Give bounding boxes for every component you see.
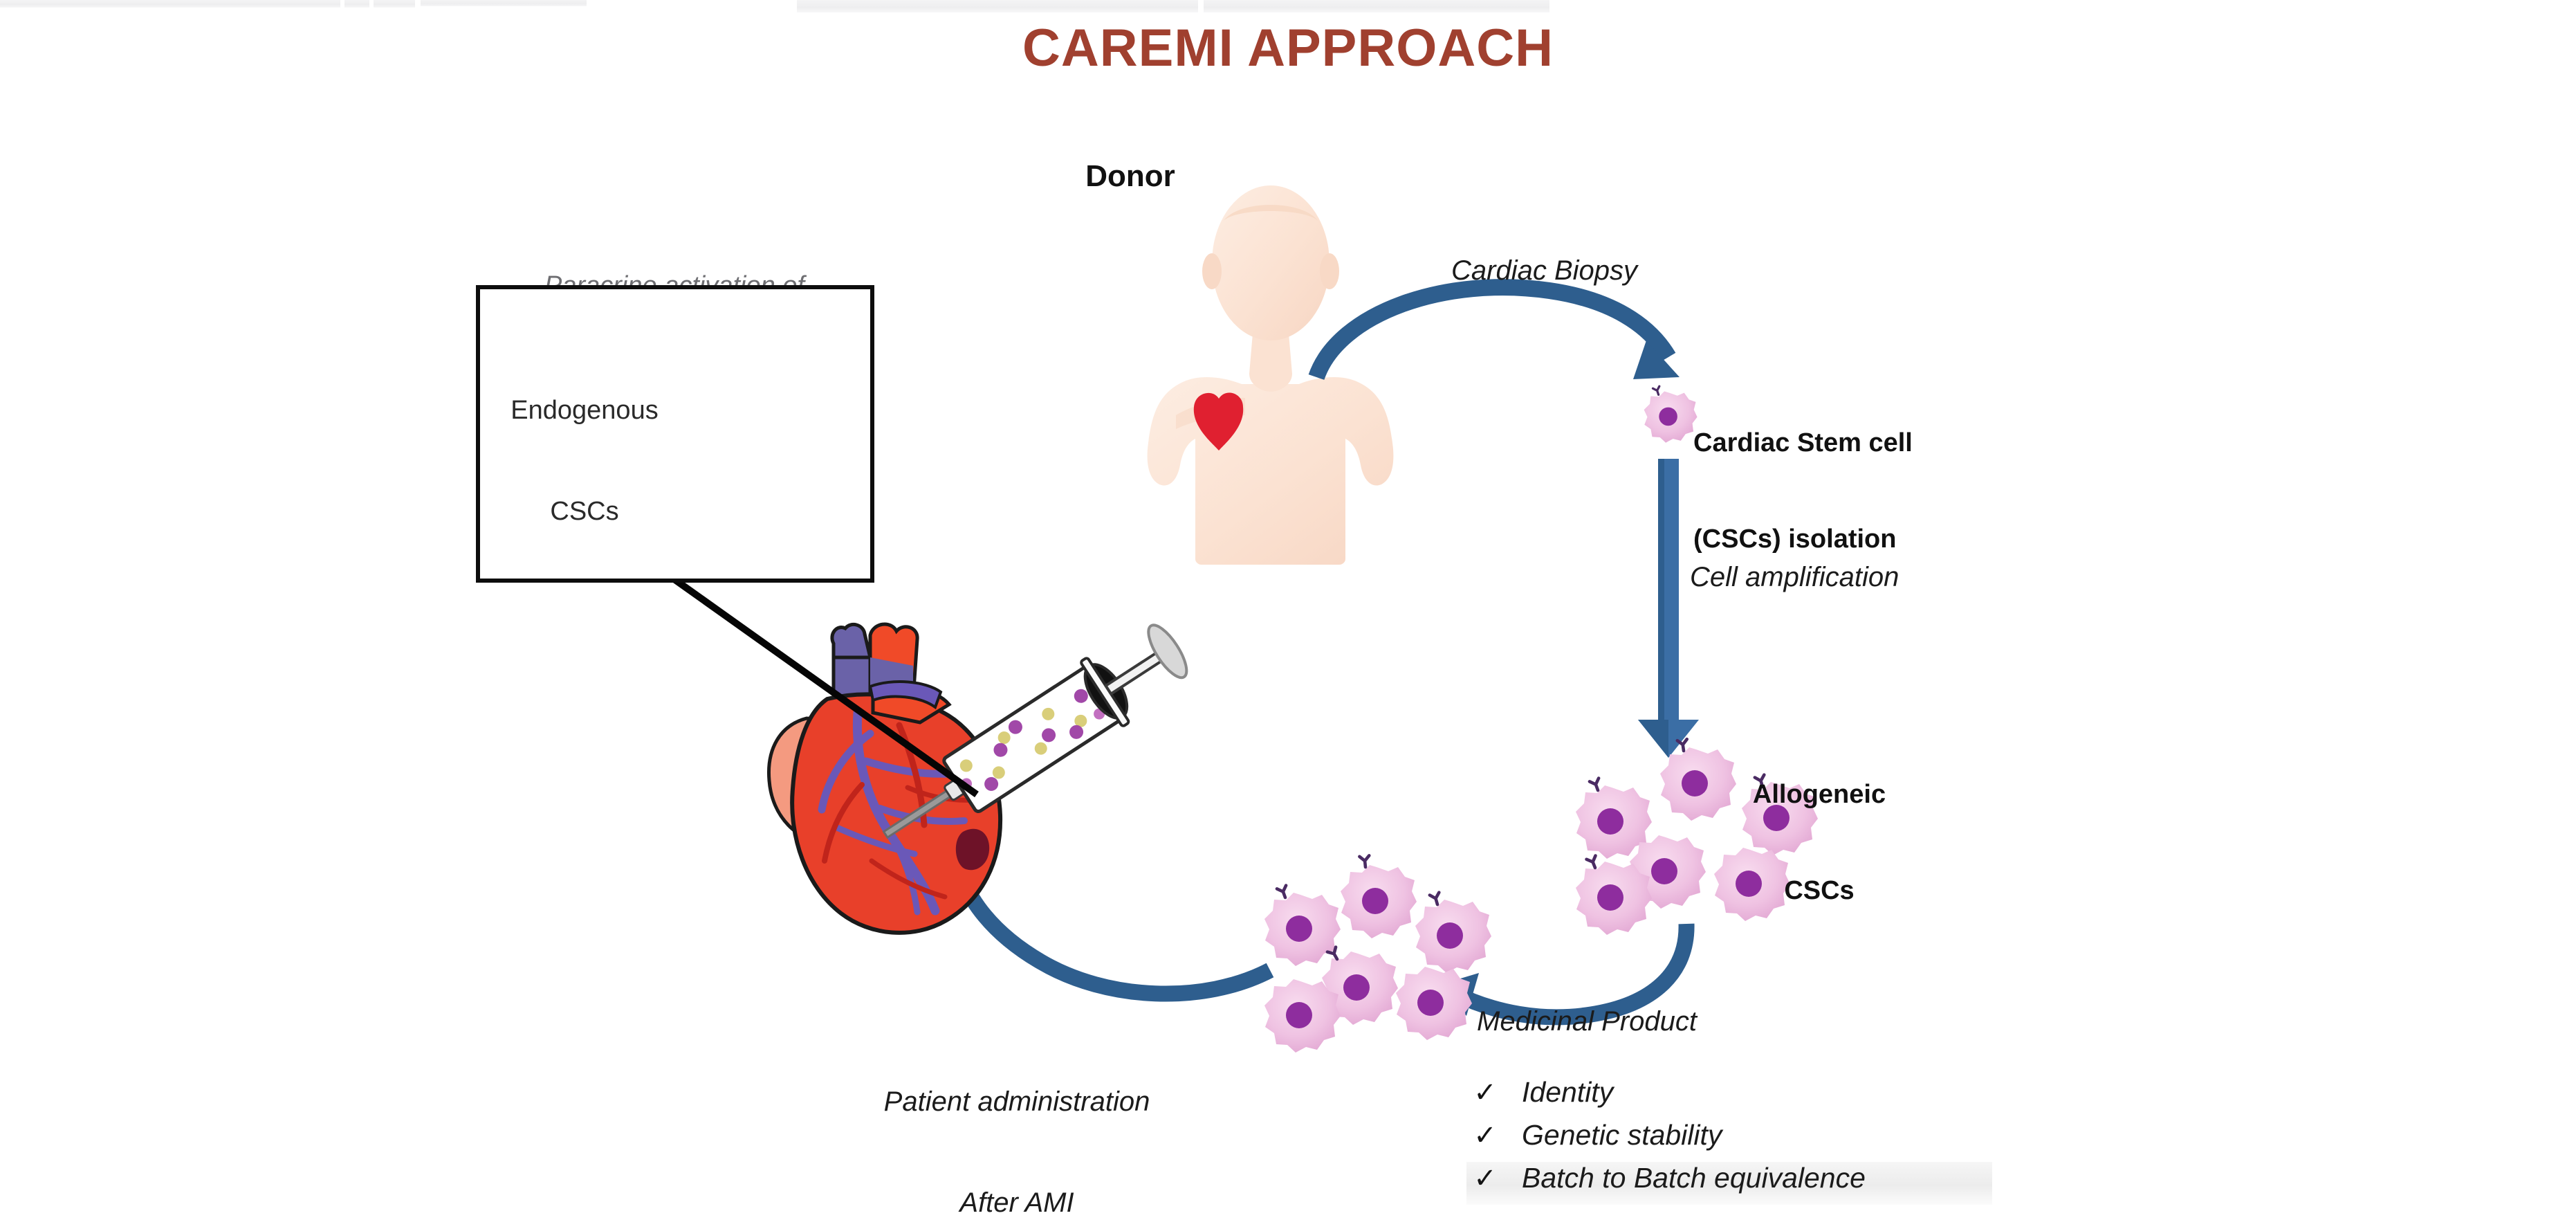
cell-amplification-label: Cell amplification [1690,561,1899,594]
isolated-csc-cell [1644,386,1698,442]
checklist-item-label: Genetic stability [1522,1119,1722,1151]
diagram-canvas: CAREMI APPROACH [0,0,2576,1229]
window-chrome-band-right2 [1204,0,1549,12]
donor-label: Donor [1054,158,1206,195]
patient-administration-label: Patient administration After AMI [865,1017,1169,1229]
endogenous-csc-label: Endogenous CSCs [484,327,685,596]
patient-admin-line2: After AMI [865,1186,1169,1220]
window-chrome-band-left [0,0,340,8]
allogeneic-line2: CSCs [1702,875,1937,907]
check-icon: ✓ [1473,1077,1497,1109]
page-title: CAREMI APPROACH [0,18,2576,78]
checklist-item-batch-equivalence: ✓ Batch to Batch equivalence [1466,1162,1992,1205]
check-icon: ✓ [1473,1120,1497,1151]
window-chrome-band-mid [344,0,369,8]
csc-isolation-line2: (CSCs) isolation [1693,523,2108,555]
diagram-artwork [0,0,2576,1229]
checklist-item-label: Batch to Batch equivalence [1522,1162,1866,1194]
checklist-item-identity: ✓ Identity [1466,1076,1992,1119]
endogenous-line2: CSCs [484,495,685,529]
allogeneic-csc-label: Allogeneic CSCs [1702,714,1937,971]
window-chrome-band-right [797,0,1198,12]
recipient-heart [769,624,1000,933]
window-chrome-band-mid2 [374,0,415,8]
csc-isolation-line1: Cardiac Stem cell [1693,427,2108,459]
syringe [865,613,1198,867]
patient-admin-line1: Patient administration [865,1085,1169,1119]
medicinal-product-label: Medicinal Product [1477,1005,1697,1039]
cardiac-biopsy-label: Cardiac Biopsy [1451,254,1637,288]
window-chrome-band-mid3 [421,0,587,6]
cardiac-biopsy-arrow [1316,287,1680,379]
patient-administration-arrow [939,839,1270,994]
medicinal-product-arrow [1437,924,1686,1017]
donor-figure [1148,185,1394,565]
endogenous-line1: Endogenous [484,394,685,428]
cell-amplification-arrow [1638,459,1699,758]
medicinal-product-cluster [1264,855,1491,1053]
allogeneic-line1: Allogeneic [1702,779,1937,810]
checklist-item-genetic-stability: ✓ Genetic stability [1466,1119,1992,1162]
check-icon: ✓ [1473,1163,1497,1194]
checklist-item-label: Identity [1522,1076,1613,1109]
medicinal-product-checklist: ✓ Identity ✓ Genetic stability ✓ Batch t… [1466,1076,1992,1205]
inset-pointer-line [675,580,977,794]
